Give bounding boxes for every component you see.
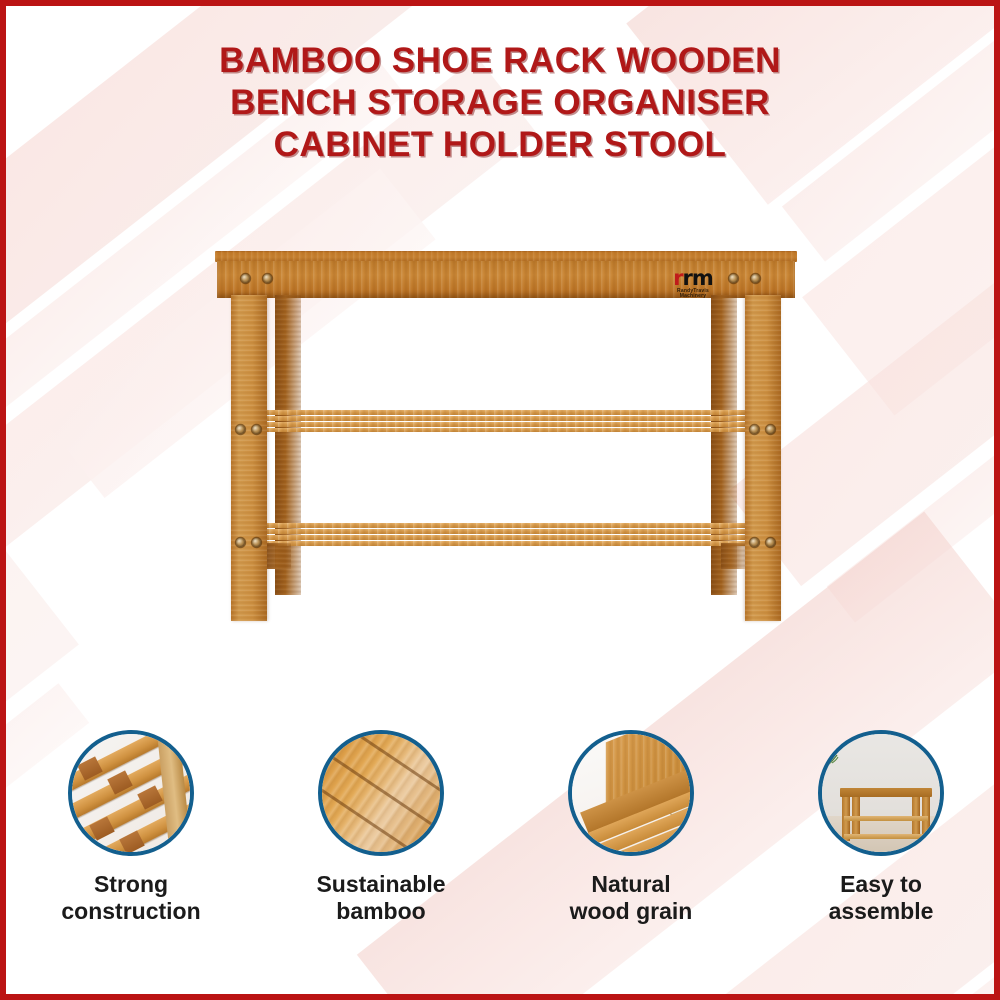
product-image: rrm RandyTravis Machinery [6, 221, 1000, 691]
left-leg-screw-upper-2 [252, 425, 261, 434]
assembled-bench-room-icon [818, 730, 944, 856]
brand-logo: rrm RandyTravis Machinery [663, 268, 723, 299]
title-line-1: BAMBOO SHOE RACK WOODEN [6, 40, 994, 82]
wood-grain-rack-corner-icon [568, 730, 694, 856]
rail-screw-2 [263, 274, 272, 283]
shelf-bracket-right-lower [721, 543, 745, 569]
brand-logo-mark-text: rm [683, 266, 713, 290]
feature-item-sustainable-bamboo: Sustainable bamboo [256, 730, 506, 960]
page-title: BAMBOO SHOE RACK WOODEN BENCH STORAGE OR… [6, 40, 994, 166]
bench-front-rail: rrm RandyTravis Machinery [217, 261, 795, 298]
feature-label: Strong construction [61, 871, 200, 925]
left-leg-screw-lower-1 [236, 538, 245, 547]
upper-shelf-slat-2 [233, 416, 779, 421]
left-leg-screw-lower-2 [252, 538, 261, 547]
brand-logo-subtitle: RandyTravis Machinery [663, 289, 723, 299]
upper-shelf-slat-4 [233, 428, 779, 432]
bench-lower-shelf [233, 523, 779, 549]
right-leg-screw-upper-1 [750, 425, 759, 434]
bench-front-leg-left [231, 295, 267, 621]
plant-leaf-icon [824, 754, 842, 770]
product-poster: BAMBOO SHOE RACK WOODEN BENCH STORAGE OR… [0, 0, 1000, 1000]
lower-shelf-slat-4 [233, 541, 779, 546]
feature-item-natural-wood-grain: Natural wood grain [506, 730, 756, 960]
left-leg-screw-upper-1 [236, 425, 245, 434]
right-leg-screw-lower-1 [750, 538, 759, 547]
shelf-bracket-left-lower [267, 543, 291, 569]
right-leg-screw-lower-2 [766, 538, 775, 547]
upper-shelf-slat-3 [233, 422, 779, 427]
brand-logo-mark-accent: r [673, 266, 682, 290]
brand-logo-mark: rrm [663, 268, 723, 288]
feature-label: Easy to assemble [829, 871, 934, 925]
bamboo-bench-illustration: rrm RandyTravis Machinery [211, 251, 801, 661]
rail-screw-3 [729, 274, 738, 283]
bamboo-grain-closeup-icon [318, 730, 444, 856]
lower-shelf-slat-2 [233, 529, 779, 534]
feature-label: Sustainable bamboo [316, 871, 445, 925]
upper-shelf-slat-1 [233, 410, 779, 415]
lower-shelf-slat-3 [233, 535, 779, 540]
feature-item-easy-to-assemble: Easy to assemble [756, 730, 1000, 960]
lower-shelf-slat-1 [233, 523, 779, 528]
title-line-3: CABINET HOLDER STOOL [6, 124, 994, 166]
rail-screw-4 [751, 274, 760, 283]
feature-label: Natural wood grain [570, 871, 693, 925]
bench-upper-shelf [233, 410, 779, 432]
feature-row: Strong construction Sustainable bamboo [6, 730, 1000, 960]
title-line-2: BENCH STORAGE ORGANISER [6, 82, 994, 124]
shelf-slats-closeup-icon [68, 730, 194, 856]
rail-screw-1 [241, 274, 250, 283]
feature-item-strong-construction: Strong construction [6, 730, 256, 960]
right-leg-screw-upper-2 [766, 425, 775, 434]
bench-front-leg-right [745, 295, 781, 621]
